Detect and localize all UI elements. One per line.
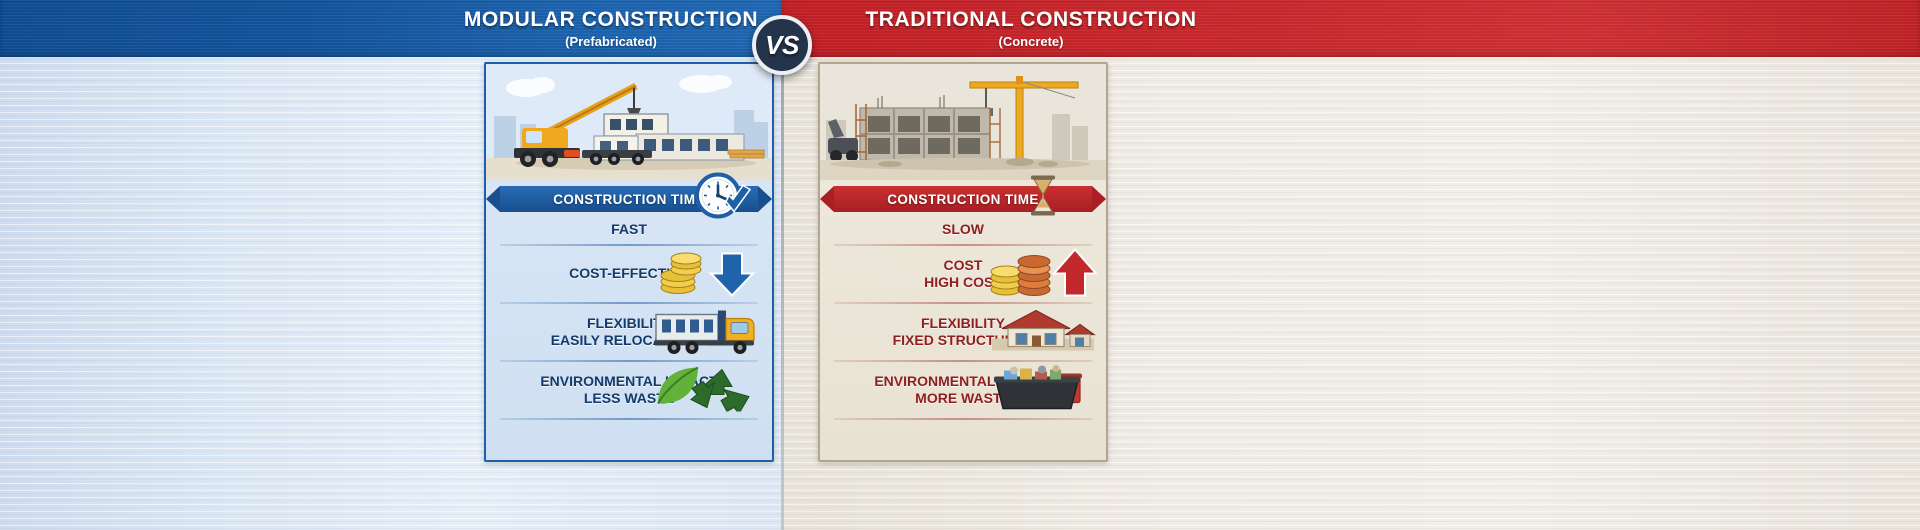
modular-illustration [486, 64, 772, 180]
divider [500, 418, 758, 420]
modular-row-construction-time: FAST [496, 214, 762, 244]
modular-rows: FAST [486, 214, 772, 420]
modular-banner: CONSTRUCTION TIME [486, 186, 772, 212]
vs-badge: VS [752, 15, 812, 75]
vs-badge-label: VS [765, 30, 799, 61]
traditional-illustration [820, 64, 1106, 180]
traditional-row-environmental-impact: ENVIRONMENTAL IMPACT MORE WASTE [830, 362, 1096, 418]
traditional-row-1-value: HIGH COST [924, 274, 1002, 290]
modular-row-3-label: ENVIRONMENTAL IMPACT [540, 374, 717, 390]
infographic-root: MODULAR CONSTRUCTION (Prefabricated) TRA… [0, 0, 1920, 530]
right-header-bar: TRADITIONAL CONSTRUCTION (Concrete) [782, 0, 1920, 57]
traditional-row-flexibility: FLEXIBILITY FIXED STRUCTURES [830, 304, 1096, 360]
modular-panel: CONSTRUCTION TIME FAST [484, 62, 774, 462]
traditional-banner-label: CONSTRUCTION TIME [834, 186, 1092, 212]
traditional-row-3-label: ENVIRONMENTAL IMPACT [874, 374, 1051, 390]
traditional-banner: CONSTRUCTION TIME [820, 186, 1106, 212]
ribbon-tail-right [1092, 186, 1106, 212]
modular-banner-label: CONSTRUCTION TIME [500, 186, 758, 212]
modular-row-cost: COST-EFFECTIVE [496, 246, 762, 302]
modular-row-3-value: LESS WASTE [584, 390, 674, 406]
ribbon-tail-right [758, 186, 772, 212]
traditional-row-2-value: FIXED STRUCTURES [893, 332, 1034, 348]
modular-row-2-label: FLEXIBILITY [587, 316, 671, 332]
ribbon-tail-left [486, 186, 500, 212]
left-header-title: MODULAR CONSTRUCTION [464, 9, 758, 30]
traditional-row-1-label: COST [944, 258, 983, 274]
left-header-bar: MODULAR CONSTRUCTION (Prefabricated) [0, 0, 782, 57]
traditional-row-3-value: MORE WASTE [915, 390, 1011, 406]
traditional-rows: SLOW COST HIGH COST [820, 214, 1106, 420]
divider [834, 418, 1092, 420]
right-header-title: TRADITIONAL CONSTRUCTION [865, 9, 1196, 30]
modular-row-2-value: EASILY RELOCATABLE [551, 332, 708, 348]
coins-up-arrow-icon [988, 246, 1100, 303]
modular-row-flexibility: FLEXIBILITY EASILY RELOCATABLE [496, 304, 762, 360]
modular-row-0-value: FAST [611, 221, 647, 237]
right-header-subtitle: (Concrete) [998, 35, 1063, 48]
ribbon-tail-left [820, 186, 834, 212]
modular-row-environmental-impact: ENVIRONMENTAL IMPACT LESS WASTE [496, 362, 762, 418]
traditional-row-2-label: FLEXIBILITY [921, 316, 1005, 332]
traditional-panel: CONSTRUCTION TIME SLOW [818, 62, 1108, 462]
left-header-subtitle: (Prefabricated) [565, 35, 657, 48]
traditional-row-cost: COST HIGH COST [830, 246, 1096, 302]
center-divider [781, 56, 784, 530]
modular-row-1-label: COST-EFFECTIVE [569, 266, 689, 282]
traditional-row-construction-time: SLOW [830, 214, 1096, 244]
traditional-row-0-value: SLOW [942, 221, 984, 237]
